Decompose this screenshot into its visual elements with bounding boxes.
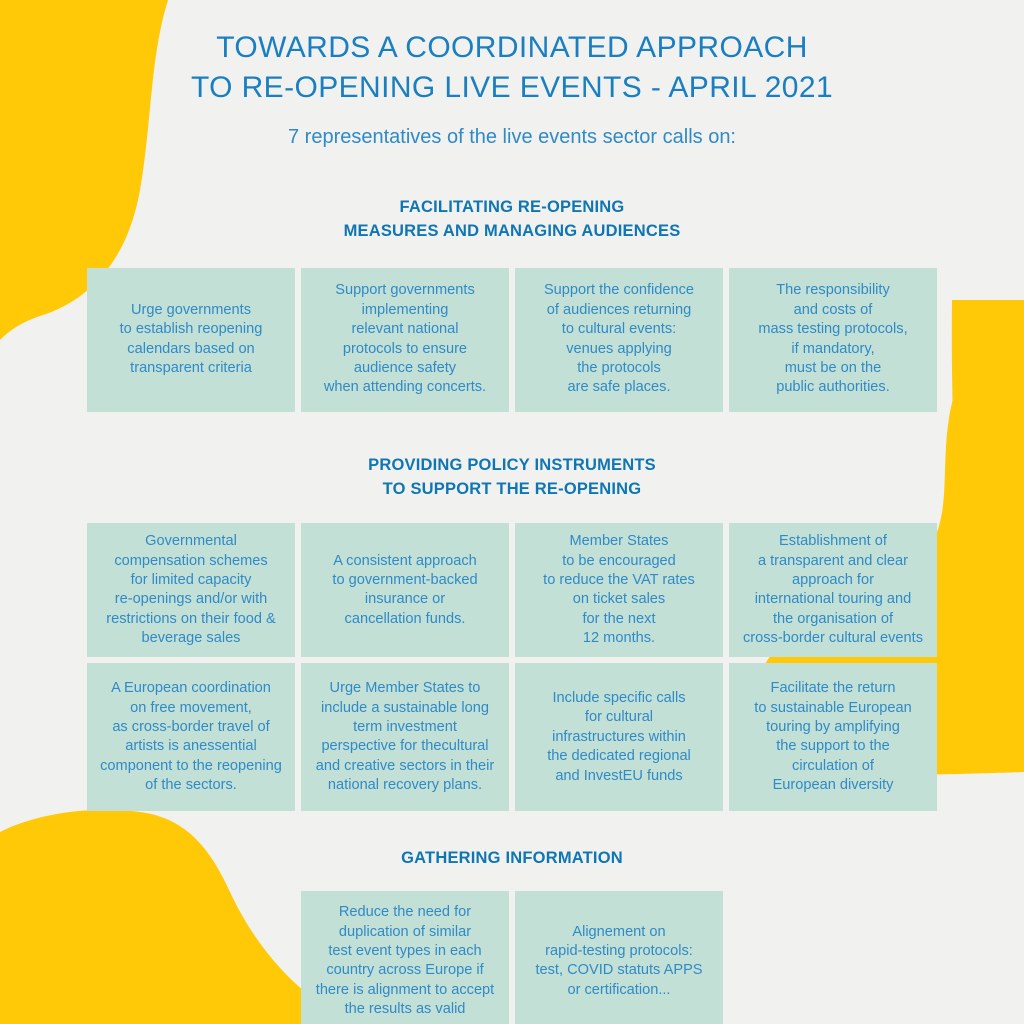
- section-heading-gathering-information: GATHERING INFORMATION: [0, 847, 1024, 871]
- section-2-card-row-1: Governmental compensation schemes for li…: [87, 523, 937, 657]
- page-header: TOWARDS A COORDINATED APPROACH TO RE-OPE…: [0, 0, 1024, 149]
- card: Urge governments to establish reopening …: [87, 268, 295, 412]
- section-heading-policy-instruments: PROVIDING POLICY INSTRUMENTS TO SUPPORT …: [0, 454, 1024, 502]
- infographic-canvas: TOWARDS A COORDINATED APPROACH TO RE-OPE…: [0, 0, 1024, 1024]
- card: Reduce the need for duplication of simil…: [301, 891, 509, 1024]
- card: A European coordination on free movement…: [87, 663, 295, 811]
- card: The responsibility and costs of mass tes…: [729, 268, 937, 412]
- card: Urge Member States to include a sustaina…: [301, 663, 509, 811]
- section-1-card-row: Urge governments to establish reopening …: [87, 268, 937, 412]
- page-subtitle: 7 representatives of the live events sec…: [0, 125, 1024, 149]
- card: Governmental compensation schemes for li…: [87, 523, 295, 657]
- section-heading-facilitating: FACILITATING RE-OPENING MEASURES AND MAN…: [0, 196, 1024, 244]
- card: Support governments implementing relevan…: [301, 268, 509, 412]
- card: A consistent approach to government-back…: [301, 523, 509, 657]
- card: Alignement on rapid-testing protocols: t…: [515, 891, 723, 1024]
- card: Member States to be encouraged to reduce…: [515, 523, 723, 657]
- card: Include specific calls for cultural infr…: [515, 663, 723, 811]
- card: Support the confidence of audiences retu…: [515, 268, 723, 412]
- page-title: TOWARDS A COORDINATED APPROACH TO RE-OPE…: [0, 28, 1024, 108]
- card: Facilitate the return to sustainable Eur…: [729, 663, 937, 811]
- section-2-card-row-2: A European coordination on free movement…: [87, 663, 937, 811]
- card: Establishment of a transparent and clear…: [729, 523, 937, 657]
- section-3-card-row: Reduce the need for duplication of simil…: [0, 891, 1024, 1024]
